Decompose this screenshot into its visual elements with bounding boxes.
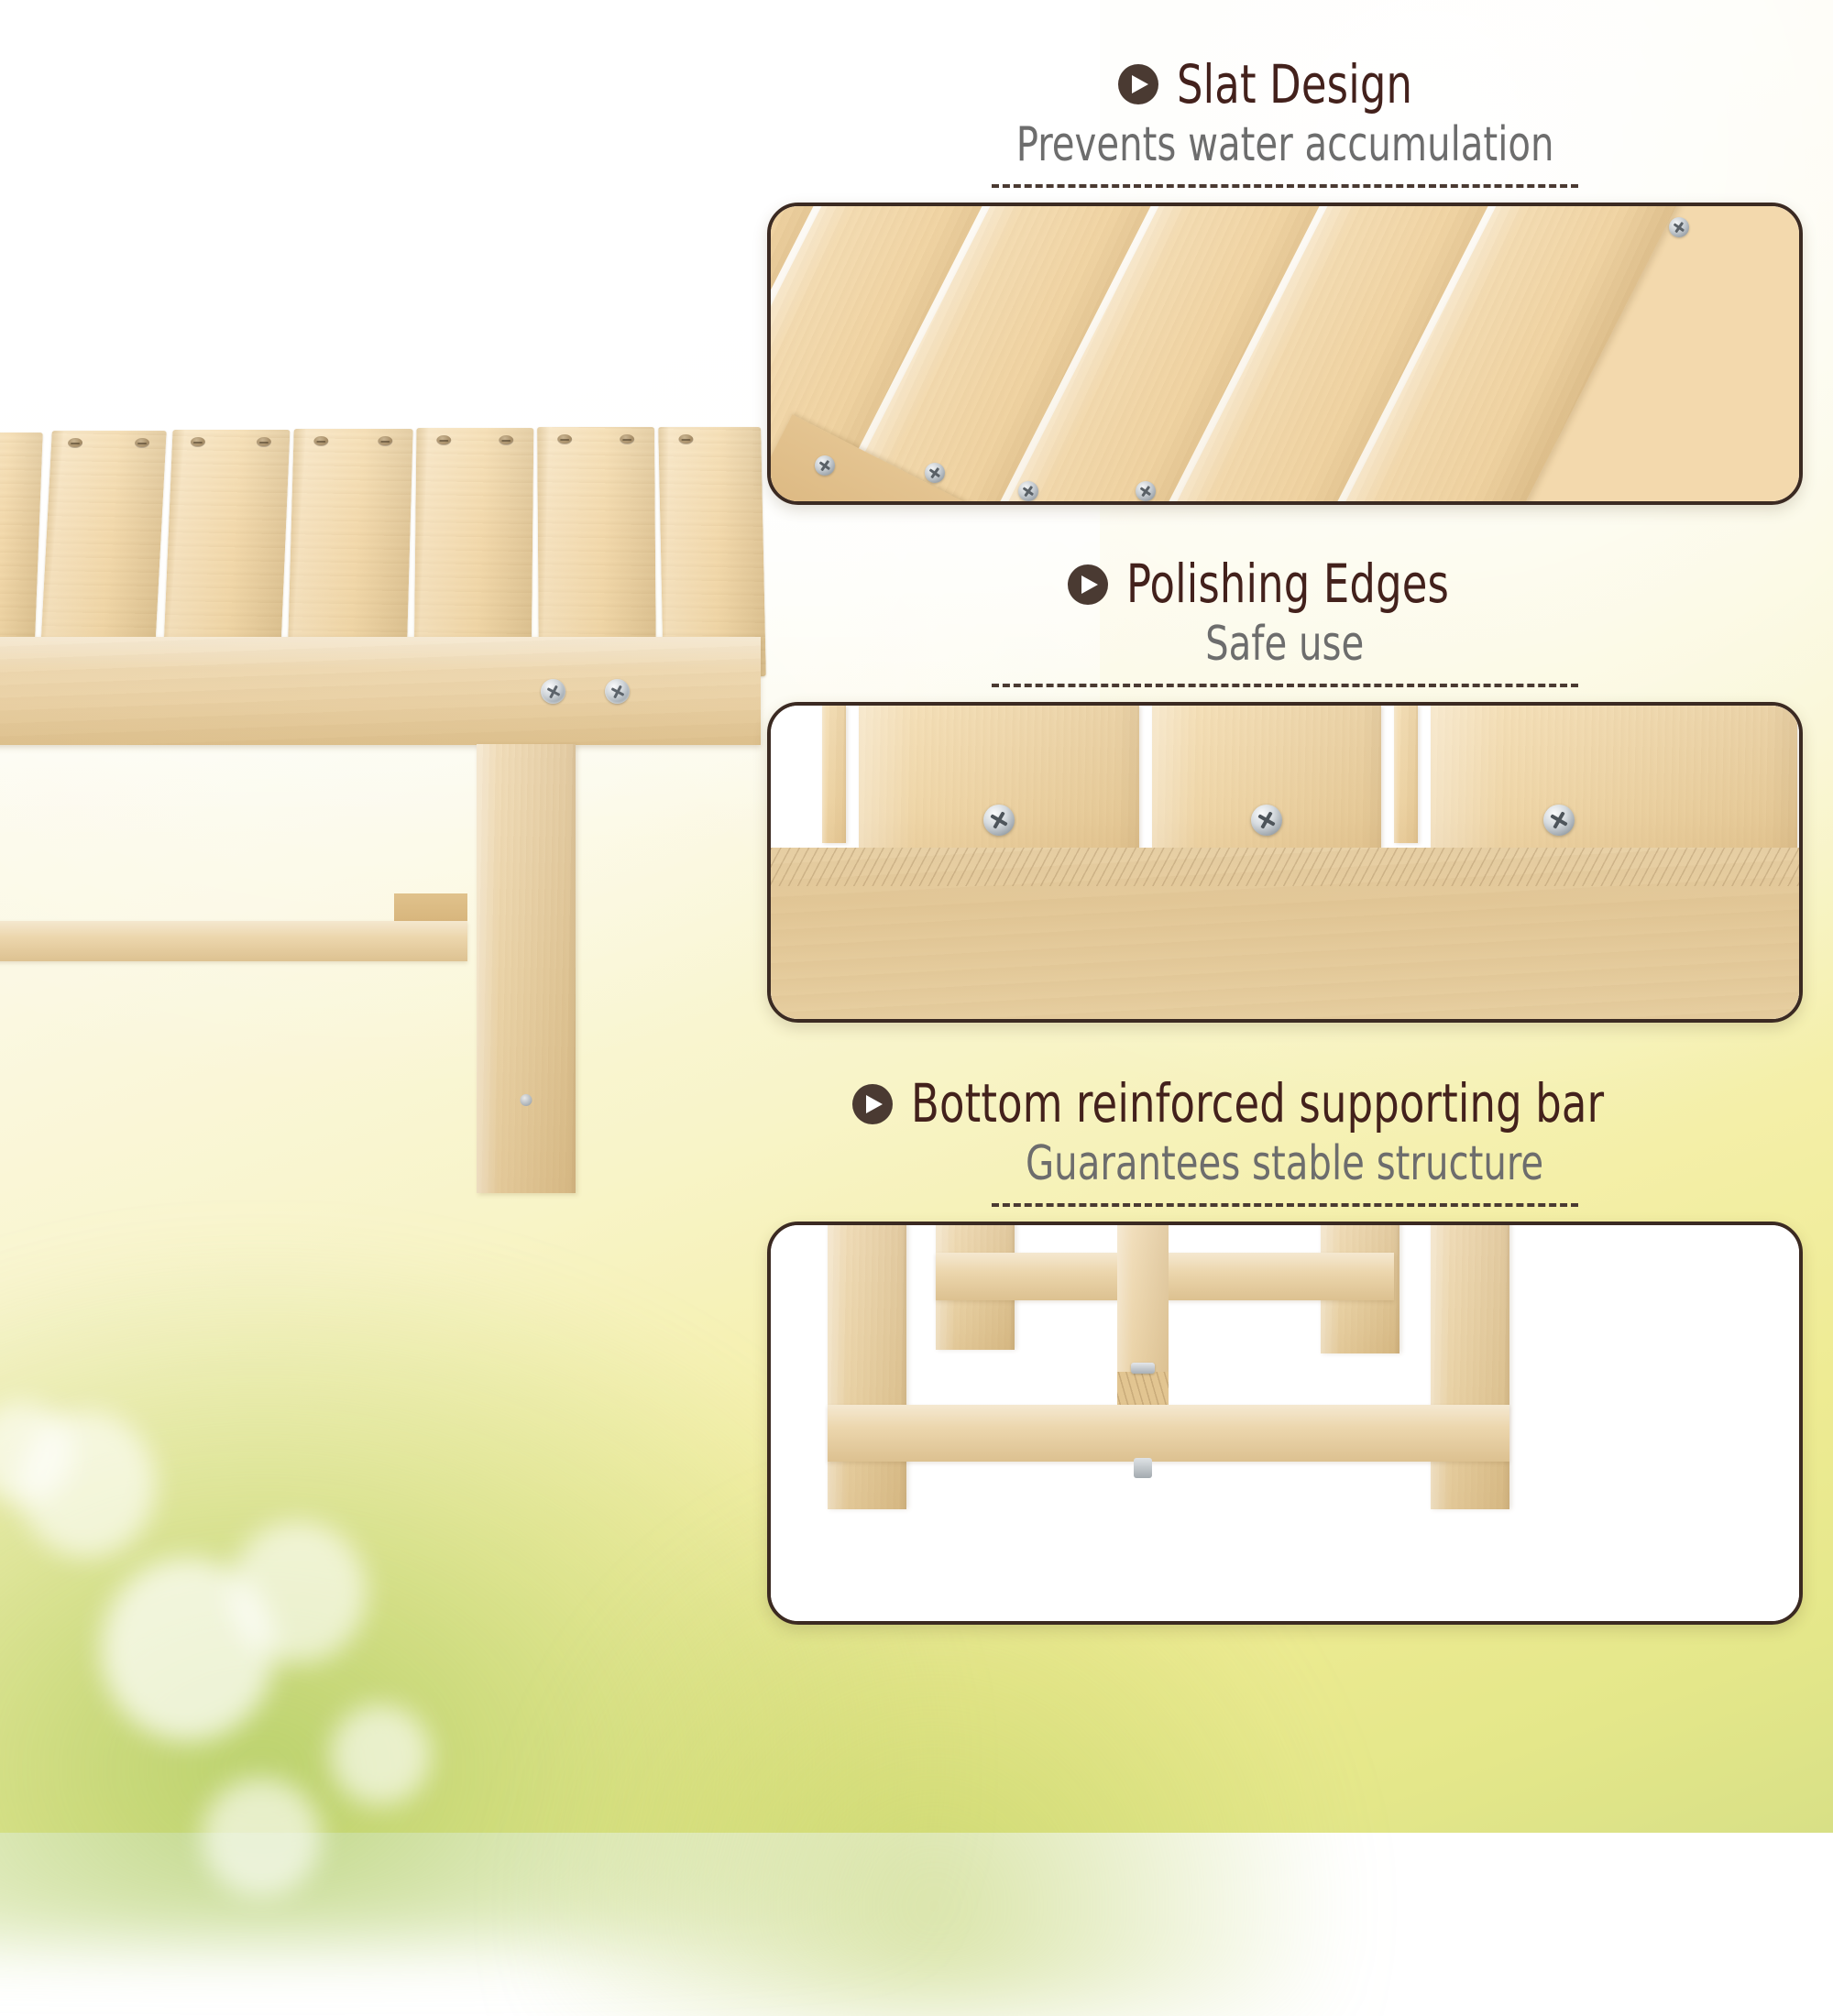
vertical-board: [822, 706, 846, 843]
slat-screw-icon: [135, 438, 150, 448]
dashed-divider: [992, 1203, 1578, 1207]
feature-subtitle: Prevents water accumulation: [752, 118, 1818, 171]
feature-title: Slat Design: [1177, 57, 1412, 113]
feature-heading: Slat Design: [752, 57, 1818, 113]
apron-screw-icon: [541, 679, 565, 704]
bench-slat: [39, 431, 167, 667]
feature-heading: Bottom reinforced supporting bar: [752, 1076, 1818, 1132]
bench-stretcher: [0, 921, 467, 961]
support-bolt-icon: [1131, 1363, 1155, 1374]
product-hero-image: [0, 385, 807, 1320]
bench-slat: [163, 430, 291, 670]
feature-slat-design: Slat Design Prevents water accumulation: [752, 57, 1818, 505]
play-circle-icon: [1118, 64, 1158, 104]
polished-edge-closeup-photo: [767, 702, 1803, 1023]
bottom-reinforcing-bar: [828, 1405, 1509, 1462]
slat-screw-icon: [257, 437, 271, 447]
bokeh-orb: [330, 1704, 431, 1805]
play-circle-icon: [852, 1084, 893, 1124]
feature-polishing-edges: Polishing Edges Safe use: [752, 556, 1818, 1023]
support-nut-icon: [1134, 1458, 1152, 1478]
panel-screw-icon: [815, 455, 835, 476]
panel-screw-icon: [1669, 217, 1689, 237]
support-bar-closeup-photo: [767, 1222, 1803, 1625]
slat-screw-icon: [313, 436, 328, 446]
slat-screw-icon: [436, 435, 451, 445]
slat-screw-icon: [191, 437, 205, 447]
board-screw-icon: [1251, 805, 1282, 836]
dashed-divider: [992, 684, 1578, 687]
feature-support-bar: Bottom reinforced supporting bar Guarant…: [752, 1076, 1818, 1625]
feature-subtitle: Guarantees stable structure: [752, 1137, 1818, 1190]
feature-heading: Polishing Edges: [752, 556, 1818, 612]
slat-top-closeup-photo: [767, 203, 1803, 505]
saw-texture: [771, 848, 1799, 886]
slat-screw-icon: [678, 434, 693, 444]
apron-screw-icon: [605, 679, 630, 704]
feature-list: Slat Design Prevents water accumulation: [752, 0, 1833, 1833]
bench-leg: [1431, 1222, 1509, 1509]
leg-screw-icon: [521, 1094, 532, 1106]
panel-screw-icon: [1018, 481, 1038, 501]
bench-apron: [0, 637, 761, 745]
slat-screw-icon: [620, 434, 634, 444]
dashed-divider: [992, 184, 1578, 188]
board-screw-icon: [983, 805, 1015, 836]
feature-title: Bottom reinforced supporting bar: [911, 1076, 1604, 1132]
bokeh-orb: [202, 1778, 321, 1897]
bench-slat: [0, 433, 43, 662]
bench-leg: [828, 1222, 906, 1509]
vertical-board: [1152, 706, 1381, 857]
slat-screw-icon: [68, 438, 83, 448]
vertical-board: [1431, 706, 1797, 857]
slat-screw-icon: [378, 436, 392, 446]
section-spacer: [752, 505, 1818, 556]
feature-title: Polishing Edges: [1126, 556, 1449, 612]
feature-subtitle: Safe use: [752, 618, 1818, 671]
bokeh-orb: [229, 1521, 367, 1663]
vertical-board: [1394, 706, 1418, 843]
bench-leg-notch: [394, 893, 467, 921]
slat-screw-icon: [557, 434, 572, 444]
center-support-bar: [1117, 1222, 1169, 1386]
bench-slat: [287, 429, 412, 672]
bench-leg: [477, 744, 576, 1193]
panel-screw-icon: [1136, 481, 1156, 501]
board-screw-icon: [1543, 805, 1575, 836]
slat-screw-icon: [499, 435, 513, 445]
section-spacer: [752, 1023, 1818, 1076]
panel-screw-icon: [925, 463, 945, 483]
vertical-board: [859, 706, 1139, 857]
play-circle-icon: [1068, 564, 1108, 605]
